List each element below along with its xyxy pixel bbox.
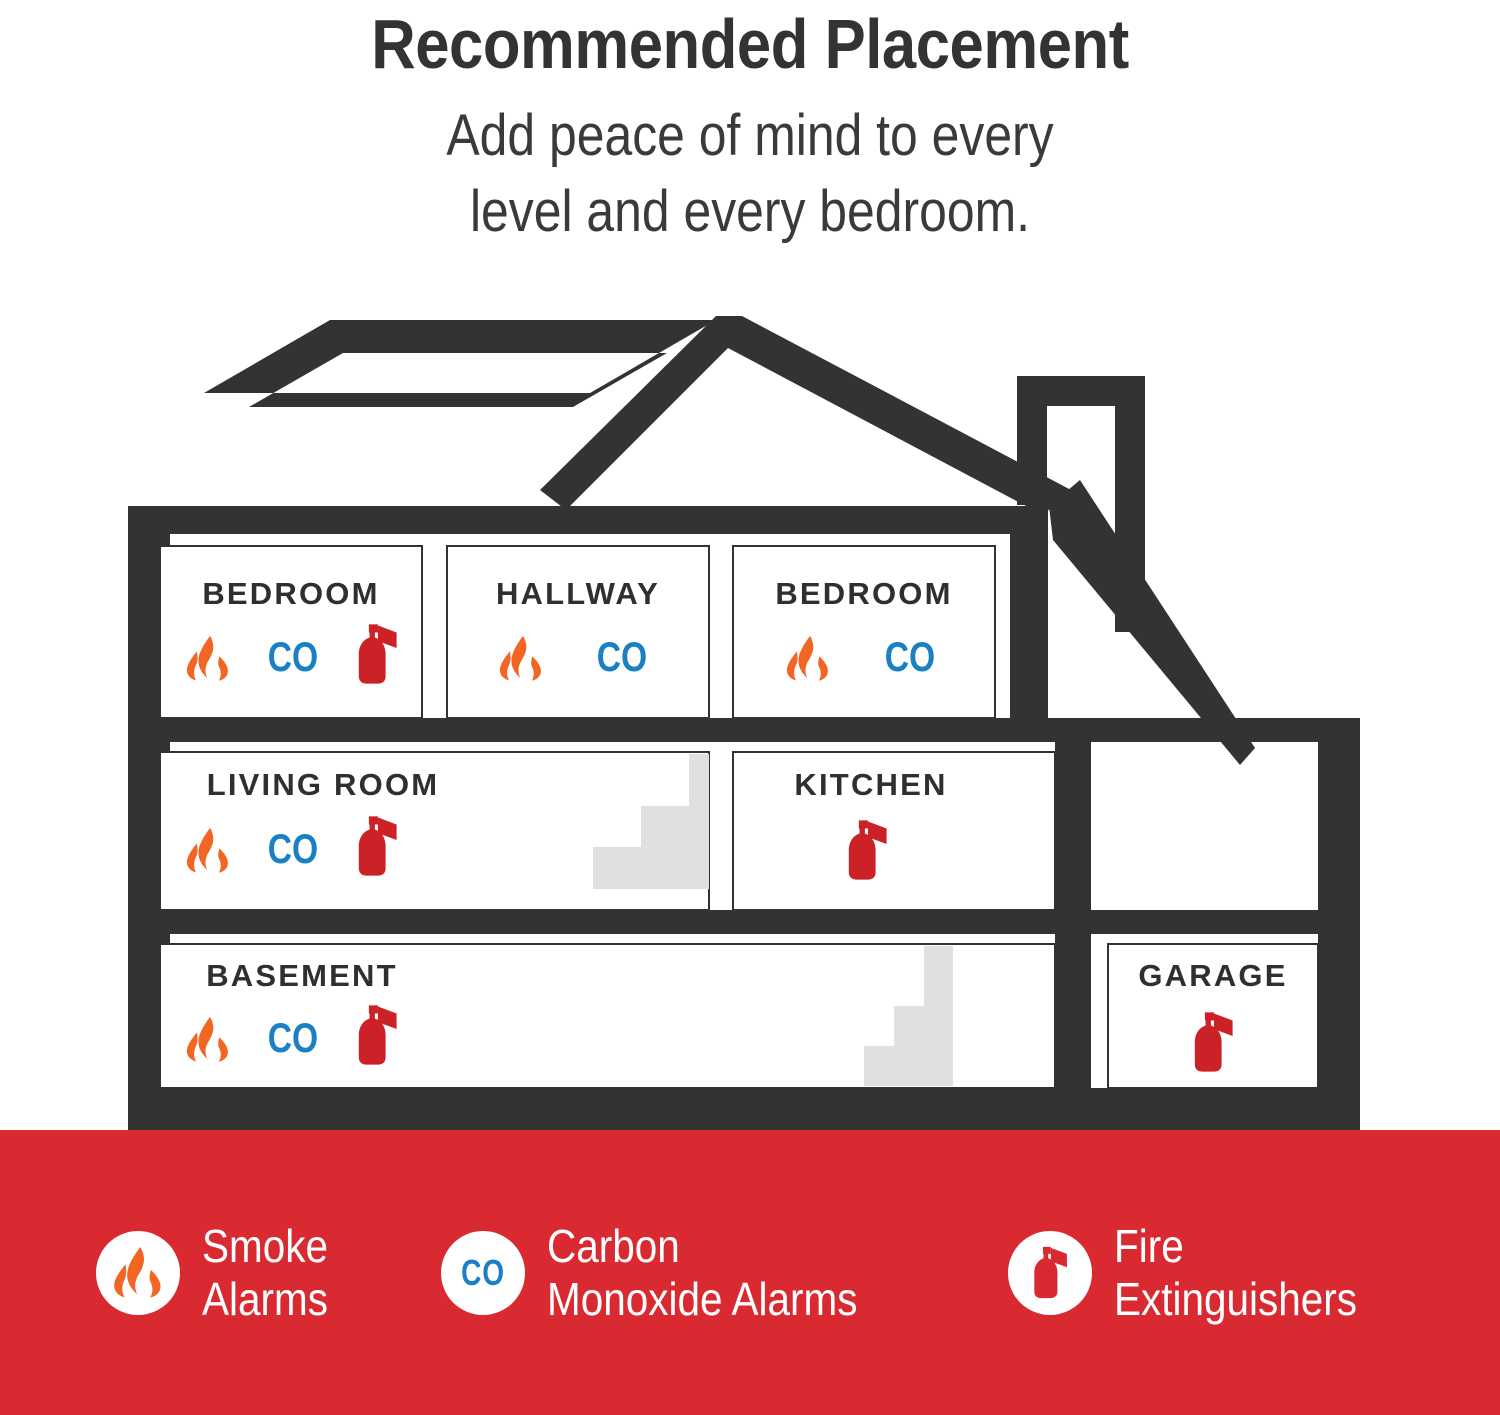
legend-item-smoke-alarms: Smoke Alarms	[96, 1220, 345, 1326]
legend-label: Smoke Alarms	[202, 1220, 328, 1326]
legend-label-line-2: Alarms	[202, 1273, 328, 1326]
legend-item-fire-extinguishers: Fire Extinguishers	[1008, 1220, 1390, 1326]
room-label: LIVING ROOM	[207, 767, 440, 802]
legend-label-line-2: Monoxide Alarms	[547, 1273, 857, 1326]
co-alarm-icon: CO	[268, 827, 318, 873]
room-bedroom-right: BEDROOM CO	[733, 546, 995, 718]
subtitle-line-1: Add peace of mind to every	[105, 98, 1395, 174]
room-basement: BASEMENT CO	[160, 944, 1055, 1088]
page-subtitle: Add peace of mind to every level and eve…	[105, 86, 1395, 250]
co-icon: CO	[441, 1231, 525, 1315]
fire-extinguisher-icon	[1008, 1231, 1092, 1315]
room-label: KITCHEN	[794, 767, 947, 802]
room-living-room: LIVING ROOM CO	[160, 752, 709, 910]
room-label: GARAGE	[1138, 958, 1287, 993]
room-garage: GARAGE	[1108, 944, 1318, 1088]
co-alarm-icon: CO	[268, 1016, 318, 1062]
room-label: HALLWAY	[496, 576, 660, 611]
room-kitchen: KITCHEN	[733, 752, 1055, 910]
house-diagram: BEDROOM CO HALLWAY CO BEDROOM CO LIVING …	[0, 300, 1500, 1140]
co-alarm-icon: CO	[268, 635, 318, 681]
legend-item-carbon-monoxide-alarms: CO Carbon Monoxide Alarms	[441, 1220, 900, 1326]
co-alarm-icon: CO	[597, 635, 647, 681]
legend-label-line-1: Fire	[1114, 1220, 1357, 1273]
room-label: BEDROOM	[202, 576, 379, 611]
room-hallway: HALLWAY CO	[447, 546, 709, 718]
legend-label-line-2: Extinguishers	[1114, 1273, 1357, 1326]
legend-banner: Smoke Alarms CO Carbon Monoxide Alarms F…	[0, 1130, 1500, 1415]
legend-label: Carbon Monoxide Alarms	[547, 1220, 857, 1326]
legend-label: Fire Extinguishers	[1114, 1220, 1357, 1326]
legend-label-line-1: Carbon	[547, 1220, 857, 1273]
page-title: Recommended Placement	[90, 0, 1410, 86]
legend-label-line-1: Smoke	[202, 1220, 328, 1273]
co-symbol: CO	[461, 1252, 505, 1294]
subtitle-line-2: level and every bedroom.	[105, 174, 1395, 250]
header: Recommended Placement Add peace of mind …	[0, 0, 1500, 300]
room-label: BEDROOM	[775, 576, 952, 611]
co-alarm-icon: CO	[885, 635, 935, 681]
room-label: BASEMENT	[206, 958, 398, 993]
flame-icon	[96, 1231, 180, 1315]
